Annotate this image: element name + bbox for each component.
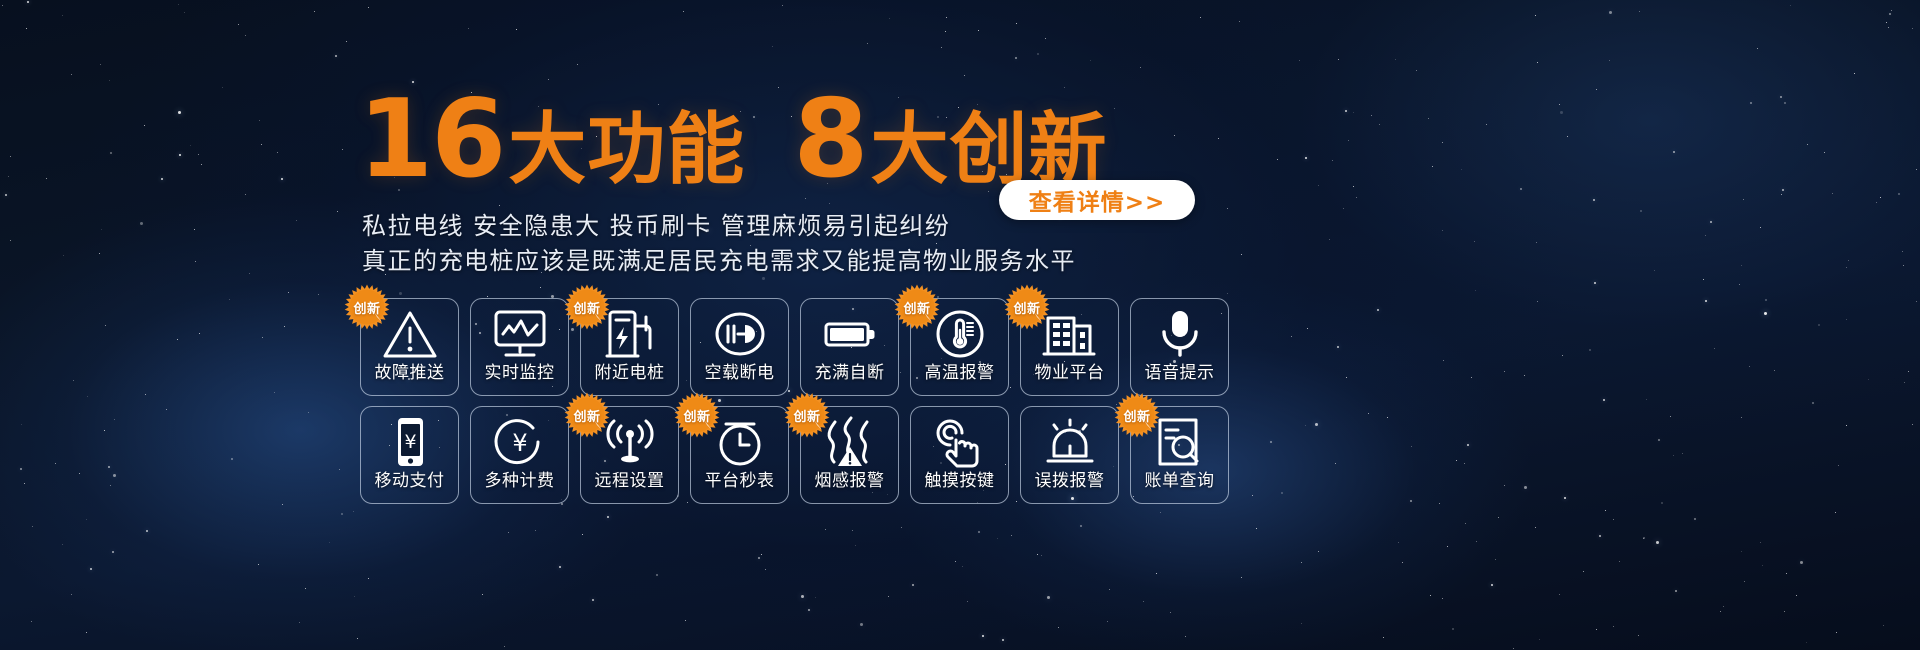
feature-row-2: ¥移动支付¥多种计费远程设置创新平台秒表创新烟感报警创新触摸按键误拨报警账单查询…	[360, 406, 1231, 506]
feature-card-实时监控[interactable]: 实时监控	[470, 298, 569, 396]
plug-disconnect-icon	[691, 303, 788, 365]
view-details-button[interactable]: 查看详情>>	[999, 180, 1195, 220]
bill-search-icon	[1131, 411, 1228, 473]
building-icon	[1021, 303, 1118, 365]
monitor-chart-icon	[471, 303, 568, 365]
feature-card[interactable]: 远程设置创新	[580, 406, 681, 506]
headline-text-innovations: 大创新	[870, 110, 1107, 188]
feature-card-远程设置[interactable]: 远程设置	[580, 406, 679, 504]
page-title: 16 大功能 8 大创新	[358, 86, 1107, 194]
feature-card[interactable]: 触摸按键	[910, 406, 1011, 506]
microphone-icon	[1131, 303, 1228, 365]
warning-triangle-icon	[361, 303, 458, 365]
feature-card[interactable]: 语音提示	[1130, 298, 1231, 398]
feature-card[interactable]: 平台秒表创新	[690, 406, 791, 506]
feature-card-触摸按键[interactable]: 触摸按键	[910, 406, 1009, 504]
feature-card-label: 误拨报警	[1035, 473, 1105, 490]
feature-grid: 故障推送创新实时监控附近电桩创新空载断电充满自断高温报警创新物业平台创新语音提示…	[360, 298, 1231, 506]
feature-card[interactable]: 烟感报警创新	[800, 406, 901, 506]
battery-full-icon	[801, 303, 898, 365]
feature-card[interactable]: 实时监控	[470, 298, 571, 398]
feature-card[interactable]: 账单查询创新	[1130, 406, 1231, 506]
charging-pile-icon	[581, 303, 678, 365]
siren-icon	[1021, 411, 1118, 473]
feature-card-多种计费[interactable]: ¥多种计费	[470, 406, 569, 504]
feature-card-label: 充满自断	[815, 365, 885, 382]
feature-card-label: 空载断电	[705, 365, 775, 382]
feature-card-移动支付[interactable]: ¥移动支付	[360, 406, 459, 504]
feature-card-账单查询[interactable]: 账单查询	[1130, 406, 1229, 504]
feature-card-label: 平台秒表	[705, 473, 775, 490]
feature-card-label: 移动支付	[375, 473, 445, 490]
feature-card-label: 实时监控	[485, 365, 555, 382]
headline-text-functions: 大功能	[508, 110, 745, 188]
feature-card-物业平台[interactable]: 物业平台	[1020, 298, 1119, 396]
subtitle-line-2: 真正的充电桩应该是既满足居民充电需求又能提高物业服务水平	[362, 241, 1076, 276]
antenna-signal-icon	[581, 411, 678, 473]
feature-card-故障推送[interactable]: 故障推送	[360, 298, 459, 396]
svg-text:¥: ¥	[404, 431, 416, 453]
svg-text:¥: ¥	[512, 429, 527, 457]
feature-card[interactable]: 故障推送创新	[360, 298, 461, 398]
feature-card[interactable]: ¥多种计费	[470, 406, 571, 506]
headline-number-16: 16	[358, 86, 504, 194]
feature-card[interactable]: 空载断电	[690, 298, 791, 398]
smoke-alarm-icon	[801, 411, 898, 473]
feature-card-label: 附近电桩	[595, 365, 665, 382]
feature-card[interactable]: ¥移动支付	[360, 406, 461, 506]
mobile-payment-icon: ¥	[361, 411, 458, 473]
subtitle-line-1: 私拉电线 安全隐患大 投币刷卡 管理麻烦易引起纠纷	[362, 206, 950, 241]
feature-card-label: 多种计费	[485, 473, 555, 490]
yuan-circle-icon: ¥	[471, 411, 568, 473]
feature-row-1: 故障推送创新实时监控附近电桩创新空载断电充满自断高温报警创新物业平台创新语音提示	[360, 298, 1231, 398]
feature-card-label: 触摸按键	[925, 473, 995, 490]
feature-card[interactable]: 高温报警创新	[910, 298, 1011, 398]
stopwatch-icon	[691, 411, 788, 473]
banner-stage: 16 大功能 8 大创新 私拉电线 安全隐患大 投币刷卡 管理麻烦易引起纠纷 真…	[0, 0, 1920, 650]
touch-hand-icon	[911, 411, 1008, 473]
feature-card[interactable]: 物业平台创新	[1020, 298, 1121, 398]
feature-card-label: 账单查询	[1145, 473, 1215, 490]
feature-card-label: 物业平台	[1035, 365, 1105, 382]
feature-card-label: 烟感报警	[815, 473, 885, 490]
feature-card-label: 语音提示	[1145, 365, 1215, 382]
feature-card[interactable]: 附近电桩创新	[580, 298, 681, 398]
feature-card-充满自断[interactable]: 充满自断	[800, 298, 899, 396]
feature-card[interactable]: 误拨报警	[1020, 406, 1121, 506]
thermometer-icon	[911, 303, 1008, 365]
feature-card-label: 故障推送	[375, 365, 445, 382]
feature-card-烟感报警[interactable]: 烟感报警	[800, 406, 899, 504]
feature-card-附近电桩[interactable]: 附近电桩	[580, 298, 679, 396]
headline-number-8: 8	[793, 86, 866, 194]
feature-card-高温报警[interactable]: 高温报警	[910, 298, 1009, 396]
feature-card-语音提示[interactable]: 语音提示	[1130, 298, 1229, 396]
feature-card-平台秒表[interactable]: 平台秒表	[690, 406, 789, 504]
feature-card-空载断电[interactable]: 空载断电	[690, 298, 789, 396]
feature-card-误拨报警[interactable]: 误拨报警	[1020, 406, 1119, 504]
feature-card-label: 远程设置	[595, 473, 665, 490]
feature-card-label: 高温报警	[925, 365, 995, 382]
feature-card[interactable]: 充满自断	[800, 298, 901, 398]
